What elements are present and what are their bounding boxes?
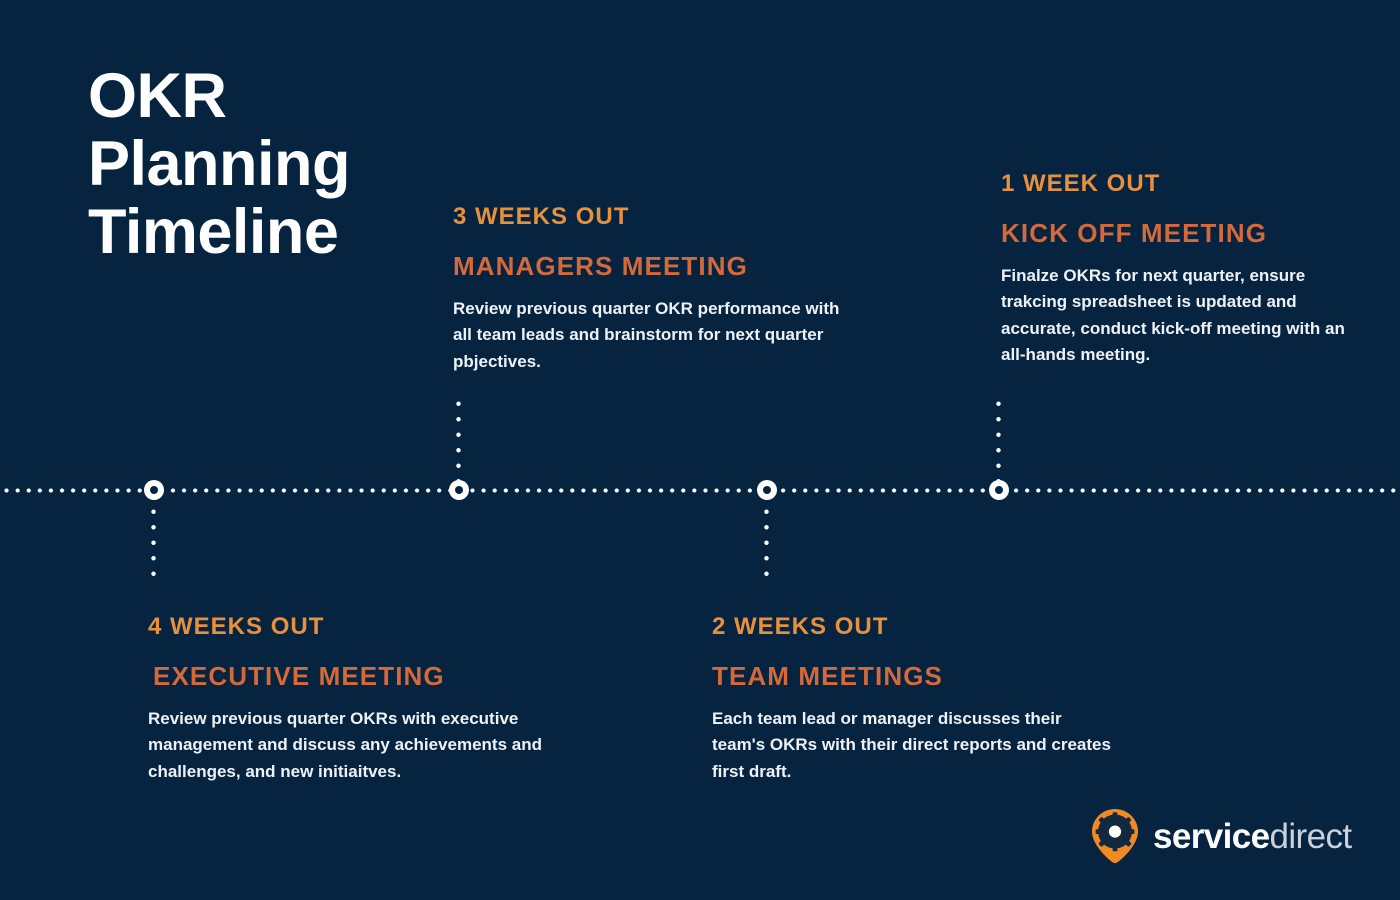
timeline-connector-4	[996, 396, 1001, 490]
logo: servicedirect	[1088, 808, 1351, 864]
timeline-connector-2	[456, 396, 461, 490]
infographic-canvas: OKR Planning Timeline 3 WEEKS OUT MANAGE…	[0, 0, 1400, 900]
timeline-node-4[interactable]	[989, 480, 1009, 500]
timeline-connector-3	[764, 504, 769, 582]
milestone-heading: TEAM MEETINGS	[712, 661, 1112, 692]
milestone-heading: EXECUTIVE MEETING	[148, 661, 568, 692]
milestone-1-week-out: 1 WEEK OUT KICK OFF MEETING Finalze OKRs…	[1001, 170, 1357, 368]
timeline-connector-1	[151, 504, 156, 582]
milestone-eyebrow: 3 WEEKS OUT	[453, 203, 845, 231]
timeline-node-3[interactable]	[757, 480, 777, 500]
milestone-3-weeks-out: 3 WEEKS OUT MANAGERS MEETING Review prev…	[453, 203, 845, 375]
logo-brand-light: direct	[1269, 817, 1351, 856]
milestone-body: Each team lead or manager discusses thei…	[712, 706, 1112, 785]
milestone-heading: MANAGERS MEETING	[453, 251, 845, 282]
timeline-node-1[interactable]	[144, 480, 164, 500]
timeline-node-2[interactable]	[449, 480, 469, 500]
milestone-eyebrow: 2 WEEKS OUT	[712, 613, 1112, 641]
logo-wordmark: servicedirect	[1153, 819, 1351, 854]
milestone-eyebrow: 1 WEEK OUT	[1001, 170, 1357, 198]
milestone-heading: KICK OFF MEETING	[1001, 218, 1357, 249]
timeline-axis	[0, 488, 1400, 493]
title-line-3: Timeline	[88, 198, 508, 266]
title-line-2: Planning	[88, 130, 508, 198]
service-direct-pin-gear-icon	[1088, 808, 1142, 864]
page-title: OKR Planning Timeline	[88, 62, 508, 266]
logo-brand-bold: service	[1153, 817, 1269, 856]
milestone-body: Review previous quarter OKRs with execut…	[148, 706, 568, 785]
milestone-body: Finalze OKRs for next quarter, ensure tr…	[1001, 263, 1357, 368]
milestone-eyebrow: 4 WEEKS OUT	[148, 613, 568, 641]
title-line-1: OKR	[88, 62, 508, 130]
milestone-2-weeks-out: 2 WEEKS OUT TEAM MEETINGS Each team lead…	[712, 613, 1112, 785]
milestone-body: Review previous quarter OKR performance …	[453, 296, 845, 375]
milestone-4-weeks-out: 4 WEEKS OUT EXECUTIVE MEETING Review pre…	[148, 613, 568, 785]
